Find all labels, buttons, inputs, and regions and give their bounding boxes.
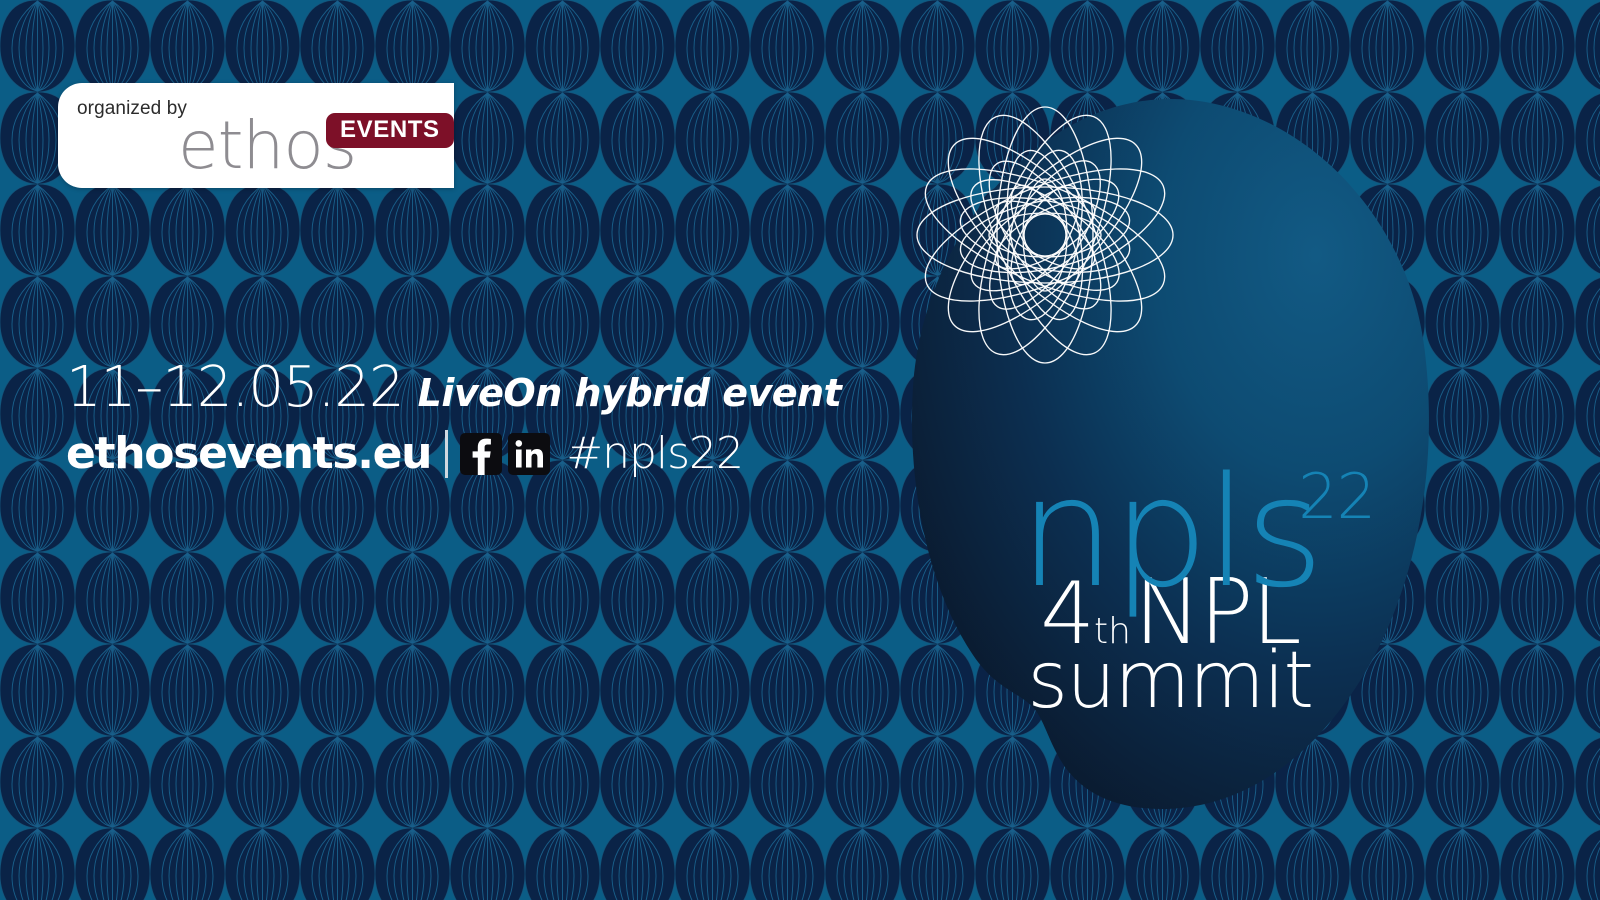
npls-year-superscript: 22 bbox=[1298, 469, 1375, 525]
event-mode-label: LiveOn hybrid event bbox=[418, 374, 842, 412]
event-info-block: 11–12.05.22 LiveOn hybrid event ethoseve… bbox=[66, 360, 826, 478]
summit-label: summit bbox=[905, 642, 1435, 720]
facebook-icon[interactable] bbox=[460, 433, 502, 475]
divider bbox=[445, 430, 448, 478]
events-badge-label: EVENTS bbox=[326, 113, 454, 148]
event-banner: organized by ethos EVENTS 11–12.05.22 Li… bbox=[0, 0, 1600, 900]
date-line: 11–12.05.22 LiveOn hybrid event bbox=[66, 360, 826, 416]
website-url[interactable]: ethosevents.eu bbox=[66, 432, 431, 476]
npls-logo-blob: npls 22 4 th NPL summit bbox=[905, 95, 1435, 815]
event-hashtag[interactable]: #npls22 bbox=[566, 432, 743, 476]
links-line: ethosevents.eu #npls22 bbox=[66, 430, 826, 478]
logo-lockup: npls 22 4 th NPL summit bbox=[905, 465, 1435, 720]
organizer-badge: organized by ethos EVENTS bbox=[58, 83, 454, 188]
spirograph-rosette-icon bbox=[905, 95, 1185, 375]
organized-by-label: organized by bbox=[77, 98, 187, 120]
npls-wordmark-line: npls 22 bbox=[1019, 465, 1321, 602]
linkedin-icon[interactable] bbox=[508, 433, 550, 475]
event-date-range: 11–12.05.22 bbox=[66, 360, 404, 416]
npls-wordmark: npls bbox=[1019, 444, 1321, 621]
